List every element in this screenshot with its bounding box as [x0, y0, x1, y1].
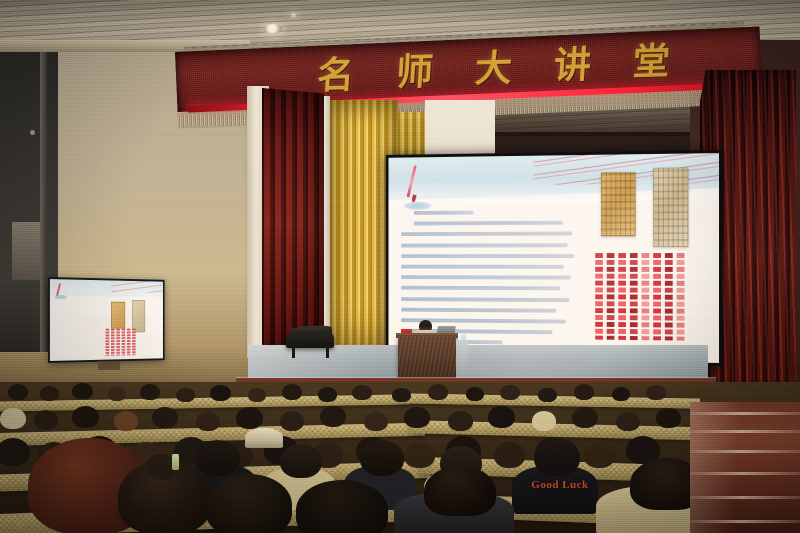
audience-head	[114, 411, 138, 431]
audience-head	[176, 388, 195, 402]
audience-head	[466, 387, 484, 401]
door-mullion	[40, 52, 47, 352]
audience-head	[320, 406, 346, 427]
audience-head	[34, 410, 58, 430]
seat-row[interactable]	[0, 394, 410, 411]
audience-head	[616, 412, 640, 431]
audience-head	[72, 383, 93, 399]
aisle-reflection	[690, 402, 800, 533]
seal-script-columns	[595, 253, 688, 341]
seal-column	[642, 253, 650, 340]
audience-head	[584, 443, 615, 468]
downlight-icon	[264, 24, 282, 34]
audience-head	[538, 388, 557, 402]
audience-head	[352, 385, 372, 400]
banner-char-4: 讲	[553, 46, 592, 84]
slide-text-line	[401, 265, 563, 269]
banner-char-1: 名	[316, 56, 355, 94]
piano-leg	[326, 346, 329, 358]
seal-column	[116, 329, 120, 356]
audience-head	[360, 440, 404, 476]
audience-head	[196, 412, 220, 431]
audience-head	[574, 384, 594, 400]
audience-head	[280, 411, 304, 431]
banner-char-3: 大	[474, 49, 513, 87]
lecture-podium[interactable]	[398, 336, 456, 380]
seal-column	[127, 329, 130, 356]
audience-head	[0, 438, 30, 466]
manuscript-tan-image	[653, 167, 688, 247]
side-wall-display[interactable]	[48, 277, 165, 363]
seal-column	[630, 253, 638, 340]
slide-text-line	[401, 297, 569, 302]
audience-head	[210, 385, 231, 401]
audience-head	[612, 387, 630, 401]
seal-column	[122, 329, 126, 356]
door-light-glint	[30, 130, 35, 135]
slide-text-line	[401, 275, 571, 279]
seal-column	[618, 253, 626, 340]
side-manuscript-tan	[132, 300, 145, 332]
audience-head	[428, 384, 448, 400]
slide-text-line	[401, 243, 567, 247]
audience-head	[532, 411, 556, 431]
baseball-cap	[245, 428, 283, 448]
audience-head	[248, 388, 266, 402]
downlight-icon	[290, 13, 298, 18]
audience-head	[488, 406, 515, 428]
audience-head	[392, 388, 411, 402]
manuscript-amber-image	[601, 172, 636, 236]
audience-seating: Good Luck	[0, 382, 800, 533]
seal-column	[111, 329, 115, 356]
brush-shadow	[404, 201, 431, 210]
slide-text-line	[401, 254, 574, 258]
slide-text-line	[414, 211, 473, 215]
audience-head	[280, 444, 322, 478]
slide-text-line	[401, 307, 556, 312]
seal-column	[607, 253, 615, 340]
audience-head	[140, 384, 160, 400]
slide-text-line	[414, 221, 562, 226]
audience-head-foreground	[424, 466, 496, 516]
seal-column	[677, 253, 685, 341]
audience-head-foreground	[206, 474, 292, 533]
auditorium-photo: 名 师 大 讲 堂	[0, 0, 800, 533]
audience-head	[404, 407, 430, 428]
seal-column	[653, 253, 661, 340]
audience-head	[404, 443, 435, 468]
audience-head	[0, 408, 26, 429]
audience-head	[196, 440, 240, 476]
audience-head	[500, 385, 520, 400]
podium-side-panel	[456, 340, 468, 380]
banner-char-5: 堂	[632, 42, 671, 80]
audience-head	[364, 412, 388, 431]
stage-curtain-left	[262, 88, 324, 366]
audience-head	[8, 384, 28, 400]
door-panel	[12, 222, 40, 280]
side-manuscript-amber	[111, 302, 125, 329]
audience-head	[282, 384, 302, 400]
slide-text-line	[401, 286, 560, 291]
banner-char-2: 师	[395, 53, 434, 91]
audience-head	[236, 407, 263, 429]
audience-head	[534, 438, 580, 476]
piano-leg	[292, 346, 295, 358]
side-brush-shadow	[55, 295, 67, 299]
audience-head	[318, 387, 337, 402]
side-display-mount	[98, 361, 120, 370]
seat-water-bottle	[172, 454, 179, 470]
piano-lid	[290, 325, 332, 334]
shirt-text: Good Luck	[524, 479, 596, 491]
audience-head	[494, 442, 525, 468]
seal-column	[595, 253, 603, 340]
seal-column	[132, 329, 135, 356]
seal-column	[665, 253, 673, 340]
audience-head-foreground	[296, 480, 388, 533]
audience-head	[108, 387, 126, 401]
audience-head	[572, 407, 598, 428]
audience-head	[152, 407, 178, 428]
slide-text-line	[401, 232, 572, 236]
seal-column	[106, 329, 110, 356]
audience-head	[40, 386, 59, 401]
audience-head	[448, 411, 473, 431]
side-seal-columns	[106, 329, 143, 356]
audience-head	[646, 385, 666, 400]
audience-head	[72, 406, 99, 428]
side-slide-streaks	[111, 280, 163, 292]
side-slide	[50, 279, 163, 361]
audience-head	[656, 408, 681, 428]
